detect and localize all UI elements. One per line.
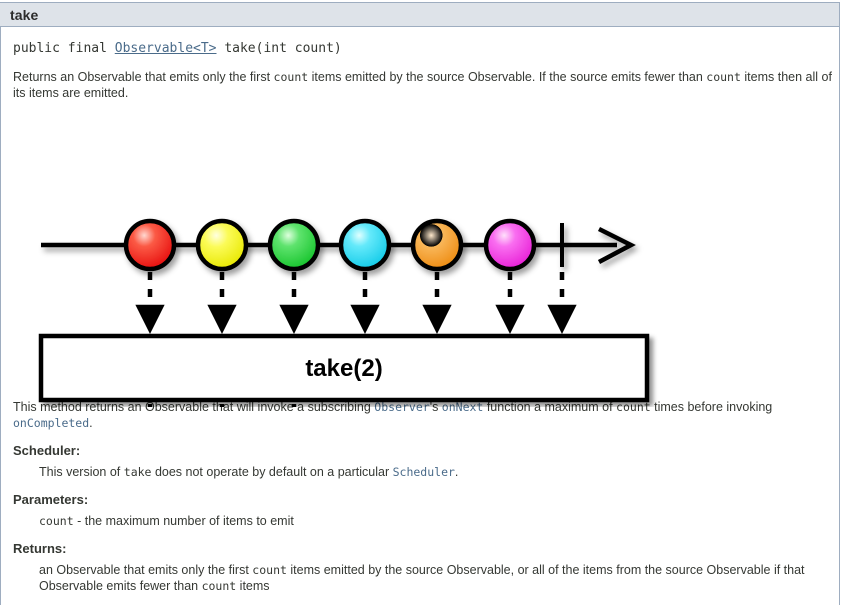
marble-source-red — [126, 221, 174, 269]
signature-suffix: take(int count) — [217, 41, 342, 56]
section-desc-scheduler: This version of take does not operate by… — [39, 464, 839, 480]
inline-code: count — [202, 579, 237, 593]
marble-source-yellow — [198, 221, 246, 269]
inline-text: . — [455, 465, 458, 479]
method-signature: public final Observable<T> take(int coun… — [13, 27, 839, 56]
method-header: take — [0, 2, 840, 27]
inline-code: count — [252, 563, 287, 577]
inline-code: take — [124, 465, 152, 479]
page-title: take — [10, 7, 38, 23]
inline-text: - the maximum number of items to emit — [74, 514, 294, 528]
source-to-operator-arrows — [139, 272, 573, 329]
method-detail-sections: Scheduler: This version of take does not… — [13, 443, 839, 594]
description-part1: Returns an Observable that emits only th… — [13, 70, 274, 84]
method-description: Returns an Observable that emits only th… — [13, 69, 839, 101]
section-term-returns: Returns: — [13, 541, 839, 556]
javadoc-method-page: take public final Observable<T> take(int… — [0, 0, 848, 607]
section-term-scheduler: Scheduler: — [13, 443, 839, 458]
note-part5: . — [89, 416, 92, 430]
marble-source-cyan — [341, 221, 389, 269]
section-desc-parameters: count - the maximum number of items to e… — [39, 513, 839, 529]
marble-source-orange — [413, 221, 461, 269]
section-term-parameters: Parameters: — [13, 492, 839, 507]
inline-doc-link[interactable]: Scheduler — [393, 465, 455, 479]
section-desc-returns: an Observable that emits only the first … — [39, 562, 839, 594]
marble-diagram: take(2) — [13, 107, 839, 407]
oncompleted-link[interactable]: onCompleted — [13, 416, 89, 430]
marble-source-green — [270, 221, 318, 269]
signature-type-link[interactable]: Observable<T> — [115, 41, 217, 56]
description-code-count-2: count — [706, 70, 741, 84]
inline-text: an Observable that emits only the first — [39, 563, 252, 577]
description-part2: items emitted by the source Observable. … — [308, 70, 706, 84]
inline-text: This version of — [39, 465, 124, 479]
operator-to-result-arrows — [139, 404, 305, 407]
description-code-count-1: count — [274, 70, 309, 84]
operator-label: take(2) — [305, 355, 382, 382]
content-inner: public final Observable<T> take(int coun… — [13, 27, 839, 594]
inline-code: count — [39, 514, 74, 528]
content-frame: public final Observable<T> take(int coun… — [0, 27, 840, 605]
marble-source-magenta — [486, 221, 534, 269]
marble-diagram-svg: take(2) — [13, 107, 839, 407]
signature-prefix: public final — [13, 41, 115, 56]
inline-text: does not operate by default on a particu… — [151, 465, 392, 479]
inline-text: items — [236, 579, 269, 593]
